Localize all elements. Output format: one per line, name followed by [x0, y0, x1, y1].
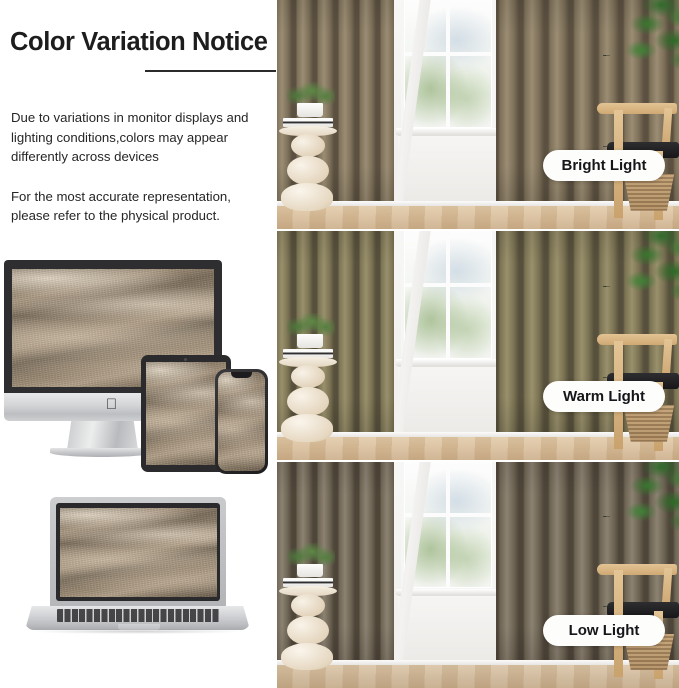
smartphone-device — [215, 369, 268, 474]
scene-label-warm: Warm Light — [543, 381, 665, 412]
side-table-sphere-upper — [291, 365, 325, 388]
fabric-swatch-texture — [146, 362, 226, 465]
room-scene-warm: Warm Light — [277, 231, 679, 460]
tablet-camera-icon — [184, 358, 187, 361]
room-scene-bright: Bright Light — [277, 0, 679, 229]
laptop-lid — [50, 497, 226, 607]
phone-notch — [231, 372, 252, 378]
room-scene-gallery: Bright Light — [277, 0, 679, 688]
side-table-plant — [287, 313, 335, 336]
imac-stand-neck — [67, 421, 138, 450]
side-table-planter — [297, 564, 323, 578]
notice-panel: Color Variation Notice Due to variations… — [0, 0, 277, 688]
side-table-base — [281, 643, 333, 670]
side-table-base — [281, 414, 333, 441]
side-table-plant — [287, 82, 335, 105]
laptop-device — [25, 497, 250, 637]
scene-label-bright: Bright Light — [543, 150, 665, 181]
window-mullion-vertical — [446, 0, 450, 127]
fabric-swatch-texture — [218, 372, 265, 471]
side-table-plant — [287, 543, 335, 566]
phone-bezel — [215, 369, 268, 474]
window-apron — [398, 366, 499, 435]
notice-paragraph-1: Due to variations in monitor displays an… — [11, 108, 273, 167]
title-underline-rule — [145, 70, 276, 72]
window-mullion-vertical — [446, 231, 450, 358]
laptop-shadow — [33, 629, 242, 634]
scene-label-low: Low Light — [543, 615, 665, 646]
window-apron — [398, 595, 499, 663]
page-title: Color Variation Notice — [10, 28, 278, 57]
room-scene-low: Low Light — [277, 462, 679, 688]
color-variation-notice-page: Color Variation Notice Due to variations… — [0, 0, 679, 688]
notice-body-text: Due to variations in monitor displays an… — [11, 108, 273, 226]
notice-paragraph-2: For the most accurate representation, pl… — [11, 187, 273, 226]
fabric-swatch-texture — [60, 508, 217, 597]
side-table-planter — [297, 334, 323, 348]
laptop-bezel — [56, 503, 220, 601]
laptop-keyboard — [57, 609, 219, 622]
laptop-screen — [60, 508, 217, 597]
device-mockup-group:  — [0, 252, 277, 688]
side-table-sphere-upper — [291, 594, 325, 617]
tablet-screen — [146, 362, 226, 465]
side-table-planter — [297, 103, 323, 117]
side-table-base — [281, 183, 333, 210]
phone-screen — [218, 372, 265, 471]
imac-stand-foot — [50, 448, 154, 457]
side-table-sphere-middle — [287, 616, 329, 645]
window-mullion-vertical — [446, 462, 450, 587]
window-apron — [398, 135, 499, 204]
side-table-sphere-upper — [291, 134, 325, 157]
apple-logo-icon:  — [105, 397, 118, 412]
